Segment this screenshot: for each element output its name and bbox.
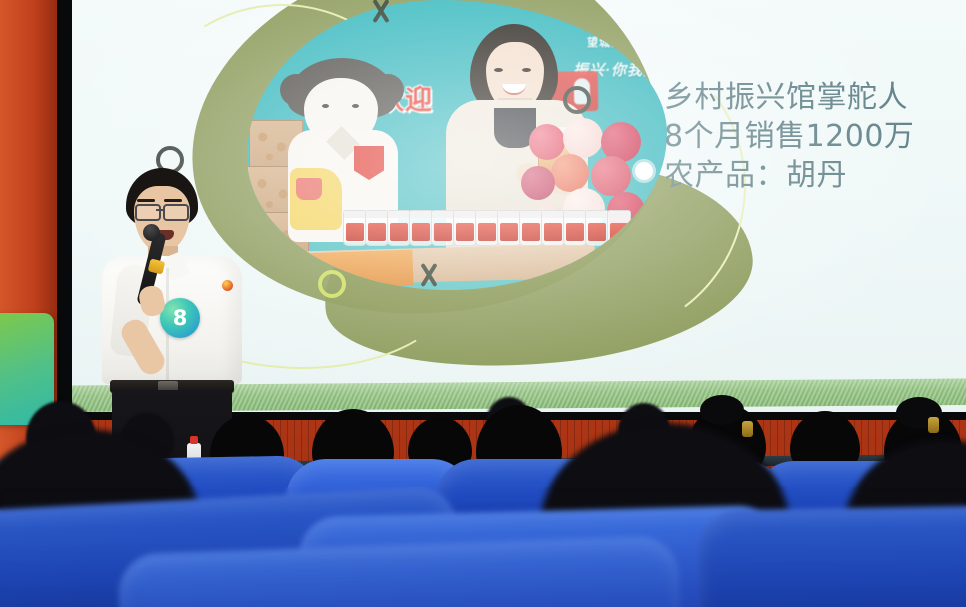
audience-area (0, 395, 966, 607)
balloon-flower-sticker (635, 162, 653, 180)
product-jar (475, 210, 499, 246)
presenter-brow-right (164, 199, 182, 202)
product-jar (365, 210, 389, 246)
product-jar (563, 210, 587, 246)
mascot-cup (296, 178, 322, 200)
product-jar (343, 210, 367, 246)
presenter-brow-left (137, 199, 155, 202)
decor-x-mark-top (368, 0, 394, 24)
seat-back-foreground (699, 503, 966, 607)
product-jar (409, 210, 433, 246)
product-jar (519, 210, 543, 246)
badge-number-text: 8 (173, 306, 188, 330)
presenter: 8 (96, 168, 248, 418)
product-jar (607, 210, 631, 246)
balloon (563, 118, 603, 158)
product-jar (497, 210, 521, 246)
screenshot-root: 望城乡村振兴 振兴·你我同 欢迎 (0, 0, 966, 607)
decor-x-mark-lower (416, 262, 442, 288)
hair-clip (742, 421, 753, 437)
audience-hair-bun (700, 395, 744, 425)
hair-clip (928, 417, 939, 433)
product-jar (585, 210, 609, 246)
slide-caption: 乡村振兴馆掌舵人 8个月销售1200万 农产品：胡丹 (664, 78, 966, 195)
balloon (521, 166, 555, 200)
slide-photo: 望城乡村振兴 振兴·你我同 欢迎 (247, 0, 667, 290)
product-jar (453, 210, 477, 246)
contestant-number-badge: 8 (160, 298, 200, 338)
product-jar (387, 210, 411, 246)
eyeglasses-left-lens (135, 204, 161, 221)
person-eye-left (494, 68, 503, 72)
mascot-eye-right (352, 104, 359, 108)
decor-ring-lime (318, 270, 346, 298)
person-eye-right (522, 68, 531, 72)
balloon (551, 154, 589, 192)
product-jar (541, 210, 565, 246)
caption-line-1: 乡村振兴馆掌舵人 (664, 78, 966, 117)
caption-line-2: 8个月销售1200万 (664, 117, 966, 156)
mascot-eye-left (322, 104, 329, 108)
lapel-pin (222, 280, 233, 291)
decor-ring-right (563, 86, 591, 114)
eyeglasses-bridge (156, 209, 164, 211)
balloon (529, 124, 565, 160)
product-jar (431, 210, 455, 246)
caption-line-3: 农产品：胡丹 (664, 156, 966, 195)
balloon (591, 156, 631, 196)
jar-row (343, 206, 623, 246)
eyeglasses-right-lens (163, 204, 189, 221)
